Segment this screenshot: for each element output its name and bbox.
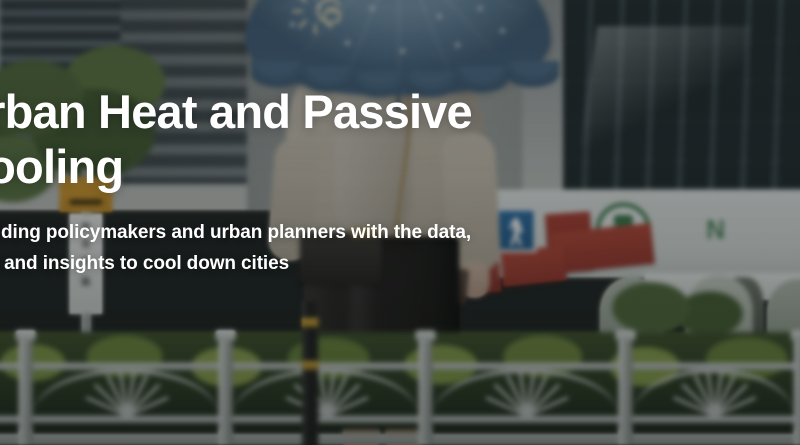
hero-banner: N ··· · · · · 安 全 行 路	[0, 0, 800, 445]
page-subtitle: Providing policymakers and urban planner…	[0, 217, 654, 279]
hero-copy-block: Urban Heat and Passive Cooling Providing…	[0, 84, 654, 279]
page-title: Urban Heat and Passive Cooling	[0, 84, 654, 194]
